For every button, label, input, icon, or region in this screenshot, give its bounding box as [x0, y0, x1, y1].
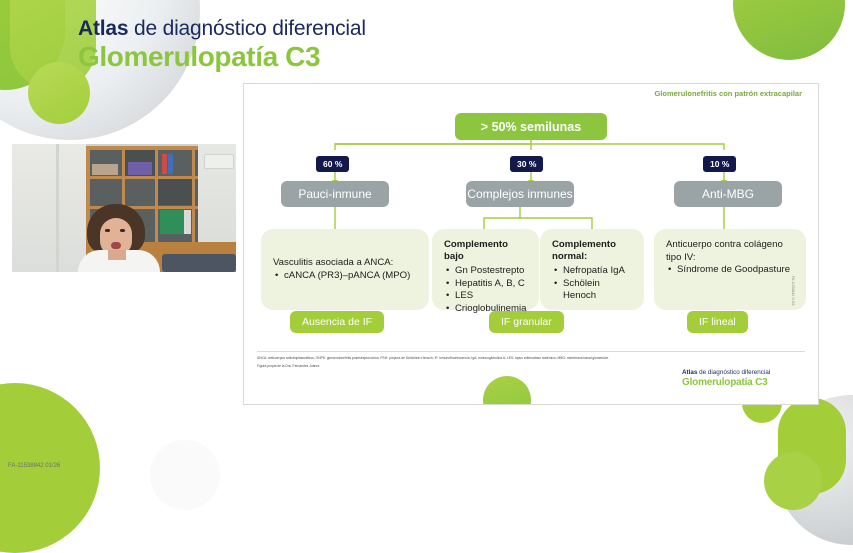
slide-divider	[257, 351, 805, 352]
panel-complemento-bajo: Complemento bajo Gn Postestrepto Hepatit…	[432, 229, 539, 310]
badge-percent-10: 10 %	[703, 156, 736, 172]
slide-logo: Atlas de diagnóstico diferencial Glomeru…	[682, 369, 770, 388]
panel-anticuerpo-list: Síndrome de Goodpasture	[666, 264, 794, 277]
list-item: Nefropatía IgA	[563, 265, 632, 278]
presenter-video-tile[interactable]	[12, 144, 236, 272]
page-title-subtitle: de diagnóstico diferencial	[128, 17, 365, 40]
slide-logo-brand: Atlas	[682, 369, 697, 376]
decor-circle-top-right	[733, 0, 845, 60]
page-title-brand: Atlas	[78, 17, 128, 40]
badge-percent-60: 60 %	[316, 156, 349, 172]
list-item: Hepatitis A, B, C	[455, 278, 527, 291]
pill-if-granular[interactable]: IF granular	[489, 311, 564, 333]
panel-anticuerpo-colageno: Anticuerpo contra colágeno tipo IV: Sínd…	[654, 229, 806, 310]
page-title: Atlas de diagnóstico diferencial Glomeru…	[78, 16, 366, 72]
slide-footnote: ANCA: anticuerpos anticitoplasmáticos; G…	[257, 356, 682, 368]
video-chair	[162, 254, 236, 272]
video-wall-left	[12, 144, 86, 272]
pill-if-lineal[interactable]: IF lineal	[687, 311, 748, 333]
page-title-line-2: Glomerulopatía C3	[78, 41, 366, 72]
panel-vasculitis-lead: Vasculitis asociada a ANCA:	[273, 257, 410, 270]
panel-vasculitis-list: cANCA (PR3)–pANCA (MPO)	[273, 270, 410, 283]
slide-logo-line-1: Atlas de diagnóstico diferencial	[682, 369, 770, 377]
presenter-neck	[108, 250, 126, 260]
slide-side-code: FA-11538842 01/26	[791, 276, 795, 306]
presenter-mouth	[111, 242, 121, 249]
list-item: Schölein Henoch	[563, 278, 632, 303]
panel-anticuerpo-lead: Anticuerpo contra colágeno tipo IV:	[666, 239, 794, 264]
footnote-abbreviations: ANCA: anticuerpos anticitoplasmáticos; G…	[257, 356, 609, 360]
list-item: cANCA (PR3)–pANCA (MPO)	[284, 270, 410, 283]
page-title-line-1: Atlas de diagnóstico diferencial	[78, 16, 366, 41]
node-root[interactable]: > 50% semilunas	[455, 113, 607, 140]
node-pauci-inmune[interactable]: Pauci-inmune	[281, 181, 389, 207]
node-complejos-inmunes[interactable]: Complejos inmunes	[466, 181, 574, 207]
panel-vasculitis: Vasculitis asociada a ANCA: cANCA (PR3)–…	[261, 229, 429, 310]
panel-complemento-bajo-list: Gn Postestrepto Hepatitis A, B, C LES Cr…	[444, 265, 527, 315]
presenter-eye-left	[105, 229, 110, 232]
list-item: Síndrome de Goodpasture	[677, 264, 794, 277]
decor-circle-bottom-right	[776, 395, 853, 545]
pill-ausencia-de-if[interactable]: Ausencia de IF	[290, 311, 384, 333]
list-item: Gn Postestrepto	[455, 265, 527, 278]
badge-percent-30: 30 %	[510, 156, 543, 172]
slide-logo-line-2: Glomerulopatía C3	[682, 377, 770, 388]
presenter-eye-right	[120, 229, 125, 232]
node-anti-mbg[interactable]: Anti-MBG	[674, 181, 782, 207]
decor-leaf-top-left-1	[0, 0, 65, 90]
slide-logo-subtitle: de diagnóstico diferencial	[697, 369, 770, 376]
shared-slide-panel: Glomerulonefritis con patrón extracapila…	[243, 83, 819, 405]
panel-complemento-normal-list: Nefropatía IgA Schölein Henoch	[552, 265, 632, 303]
panel-complemento-normal: Complemento normal: Nefropatía IgA Schöl…	[540, 229, 644, 310]
panel-complemento-bajo-title: Complemento bajo	[444, 239, 527, 263]
list-item: LES	[455, 290, 527, 303]
decor-leaf-bottom-right-2	[764, 452, 822, 510]
video-ac-unit	[204, 154, 234, 169]
decor-ghost-bottom-left	[150, 440, 220, 510]
video-wall-seam	[56, 144, 59, 272]
panel-complemento-normal-title: Complemento normal:	[552, 239, 632, 263]
page-footer-code: FA-11538842 01/26	[8, 463, 60, 469]
footnote-source: Figura propia de la Dra. Fernández Juáre…	[257, 364, 682, 369]
